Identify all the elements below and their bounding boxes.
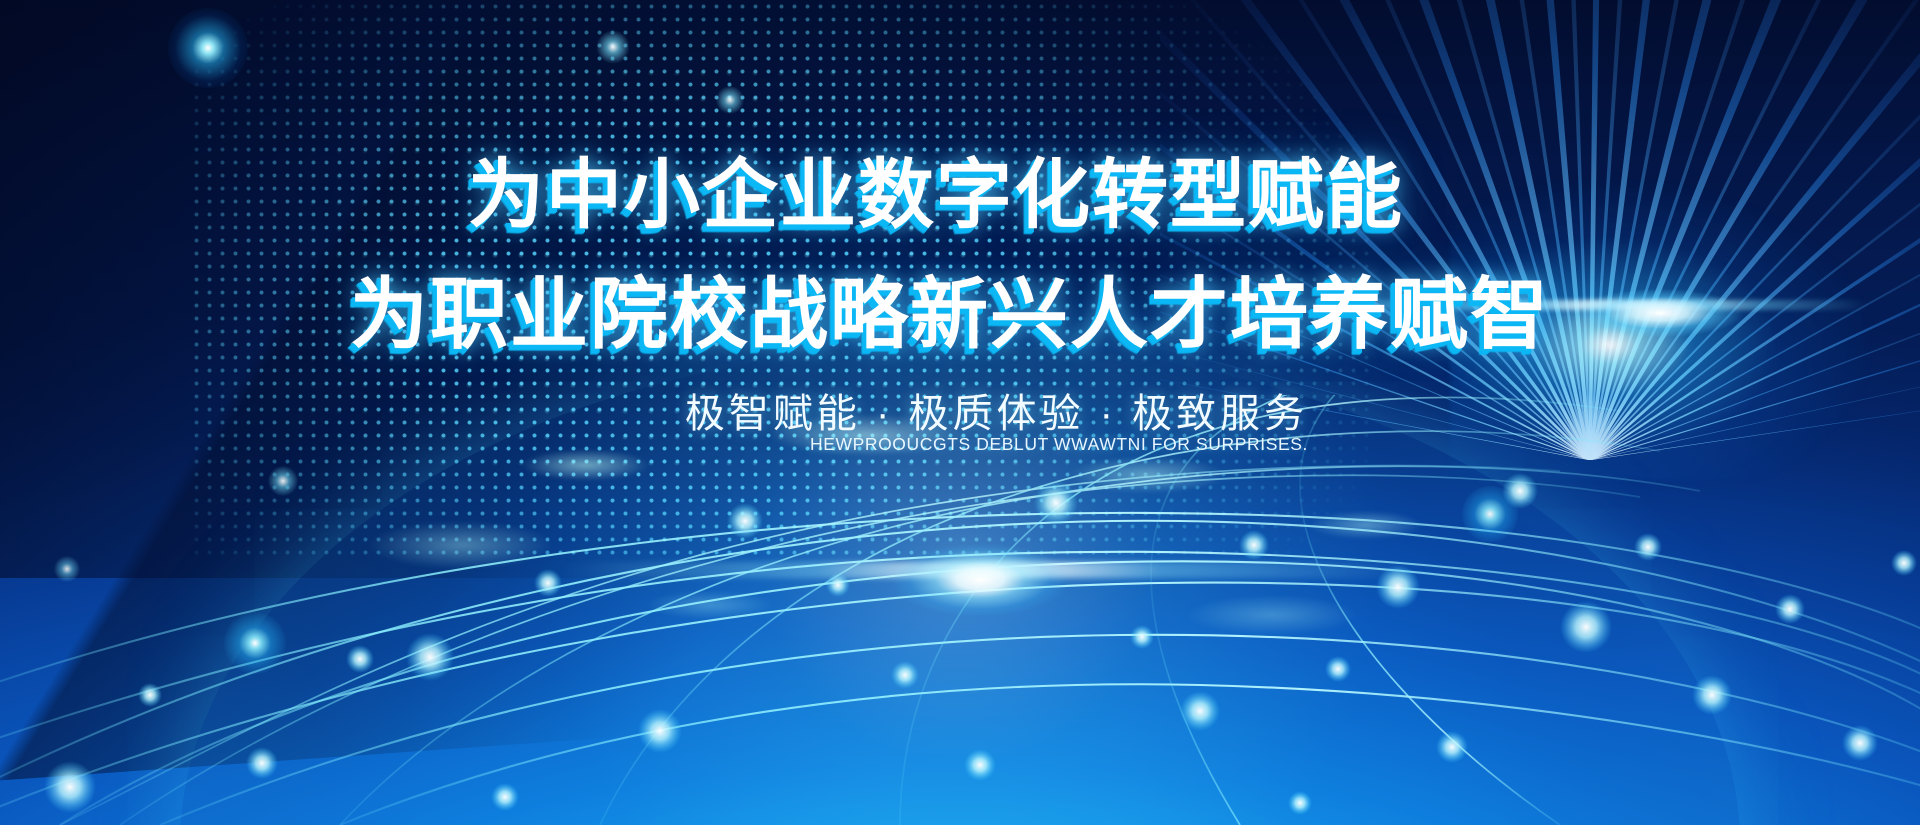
- copy-block: 为中小企业数字化转型赋能 为职业院校战略新兴人才培养赋智 极智赋能 · 极质体验…: [0, 0, 1920, 825]
- subtitle-chinese: 极智赋能 · 极质体验 · 极致服务: [0, 381, 1920, 439]
- headline-line-2-text: 为职业院校战略新兴人才培养赋智: [350, 275, 1550, 353]
- headline-line-1-text: 为中小企业数字化转型赋能: [468, 158, 1404, 234]
- headline-line-2: 为职业院校战略新兴人才培养赋智: [0, 275, 1920, 353]
- headline-line-1: 为中小企业数字化转型赋能: [0, 158, 1920, 234]
- banner-stage: 为中小企业数字化转型赋能 为职业院校战略新兴人才培养赋智 极智赋能 · 极质体验…: [0, 0, 1920, 825]
- subtitle-english: HEWPROOUCGTS DEBLUT WWAWTNI FOR SURPRISE…: [0, 434, 1920, 455]
